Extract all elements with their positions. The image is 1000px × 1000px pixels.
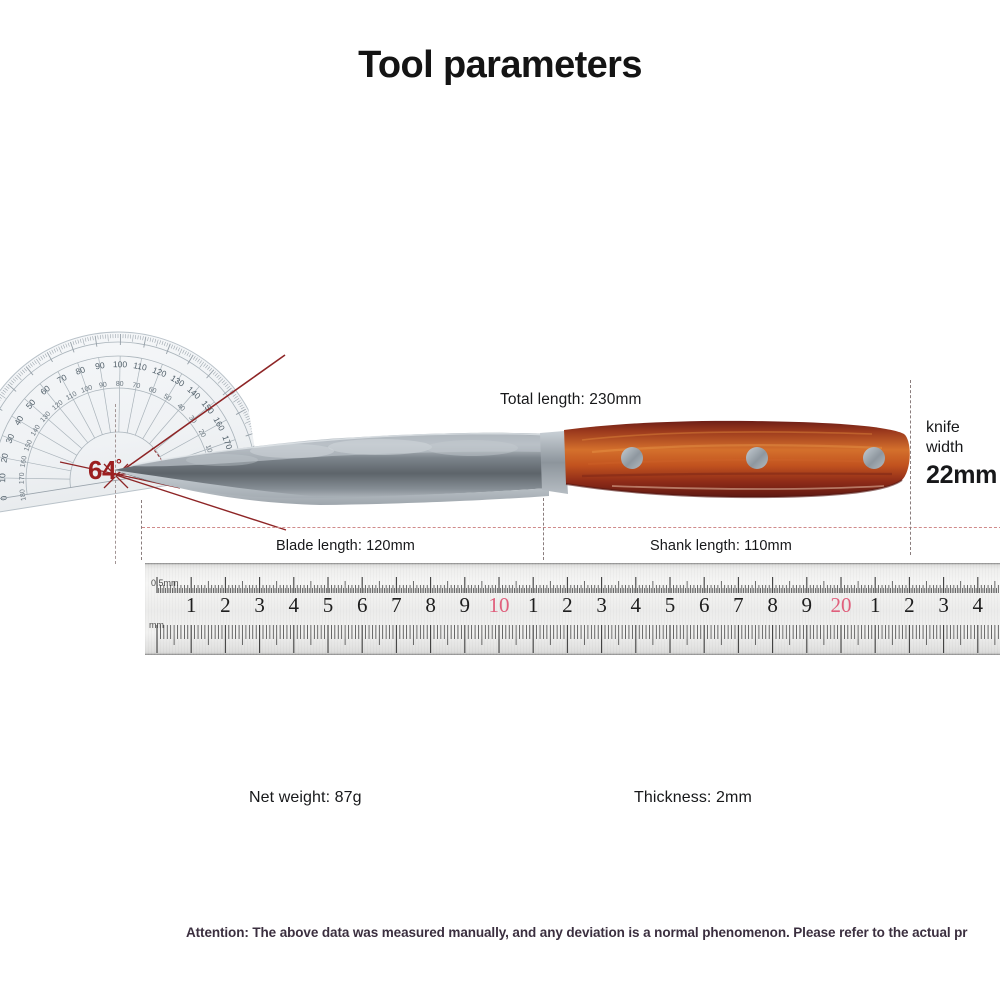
knife-bolster <box>540 431 568 494</box>
svg-text:90: 90 <box>94 360 105 371</box>
knife-width-value: 22mm <box>926 460 1000 490</box>
knife-width-line-1: knife <box>926 418 1000 438</box>
ruler-number: 3 <box>596 593 607 618</box>
ruler-number: 4 <box>973 593 984 618</box>
dimension-guide-middle <box>543 498 544 560</box>
ruler-number: 6 <box>699 593 710 618</box>
ruler-number: 2 <box>562 593 573 618</box>
ruler-number: 8 <box>767 593 778 618</box>
label-knife-width: knife width 22mm <box>926 418 1000 490</box>
ruler-number: 4 <box>631 593 642 618</box>
knife-handle <box>564 421 910 497</box>
product-parameter-page: Tool parameters 010203040506070809010011… <box>0 0 1000 1000</box>
steel-ruler: 0.5mm mm 12345678910123456789201234 <box>145 563 1000 655</box>
svg-text:90: 90 <box>99 381 108 389</box>
ruler-number: 1 <box>870 593 881 618</box>
ruler-number: 1 <box>186 593 197 618</box>
knife-width-line-2: width <box>926 438 1000 458</box>
knife-image <box>112 418 912 523</box>
ruler-number: 5 <box>323 593 334 618</box>
label-thickness: Thickness: 2mm <box>634 789 752 807</box>
ruler-number: 3 <box>254 593 265 618</box>
svg-text:80: 80 <box>116 381 124 388</box>
svg-text:70: 70 <box>132 382 141 390</box>
ruler-number: 9 <box>460 593 471 618</box>
ruler-number: 2 <box>904 593 915 618</box>
ruler-number: 10 <box>489 593 510 618</box>
ruler-unit-bottom: mm <box>149 620 164 630</box>
ruler-unit-top: 0.5mm <box>151 578 179 588</box>
attention-note: Attention: The above data was measured m… <box>186 925 1000 940</box>
ruler-number: 6 <box>357 593 368 618</box>
label-net-weight: Net weight: 87g <box>249 789 362 807</box>
ruler-number: 1 <box>528 593 539 618</box>
handle-rivet <box>746 447 768 469</box>
ruler-number: 7 <box>733 593 744 618</box>
dimension-guide-left <box>141 500 142 560</box>
knife-blade <box>114 433 549 505</box>
page-title: Tool parameters <box>0 44 1000 87</box>
ruler-number: 20 <box>831 593 852 618</box>
handle-rivet <box>863 447 885 469</box>
svg-text:100: 100 <box>113 359 128 369</box>
handle-rivet <box>621 447 643 469</box>
ruler-number: 8 <box>425 593 436 618</box>
svg-text:10: 10 <box>0 473 7 483</box>
label-blade-length: Blade length: 120mm <box>276 538 415 554</box>
svg-text:170: 170 <box>19 472 26 484</box>
ruler-number: 3 <box>938 593 949 618</box>
dimension-guide-right <box>910 380 911 555</box>
label-total-length: Total length: 230mm <box>500 391 641 409</box>
dimension-guide-tip <box>115 404 116 564</box>
label-shank-length: Shank length: 110mm <box>650 538 792 554</box>
ruler-number: 4 <box>289 593 300 618</box>
ruler-number: 2 <box>220 593 231 618</box>
ruler-number: 7 <box>391 593 402 618</box>
ruler-number: 5 <box>665 593 676 618</box>
ruler-number: 9 <box>802 593 813 618</box>
dimension-guide-horizontal <box>142 527 1000 528</box>
